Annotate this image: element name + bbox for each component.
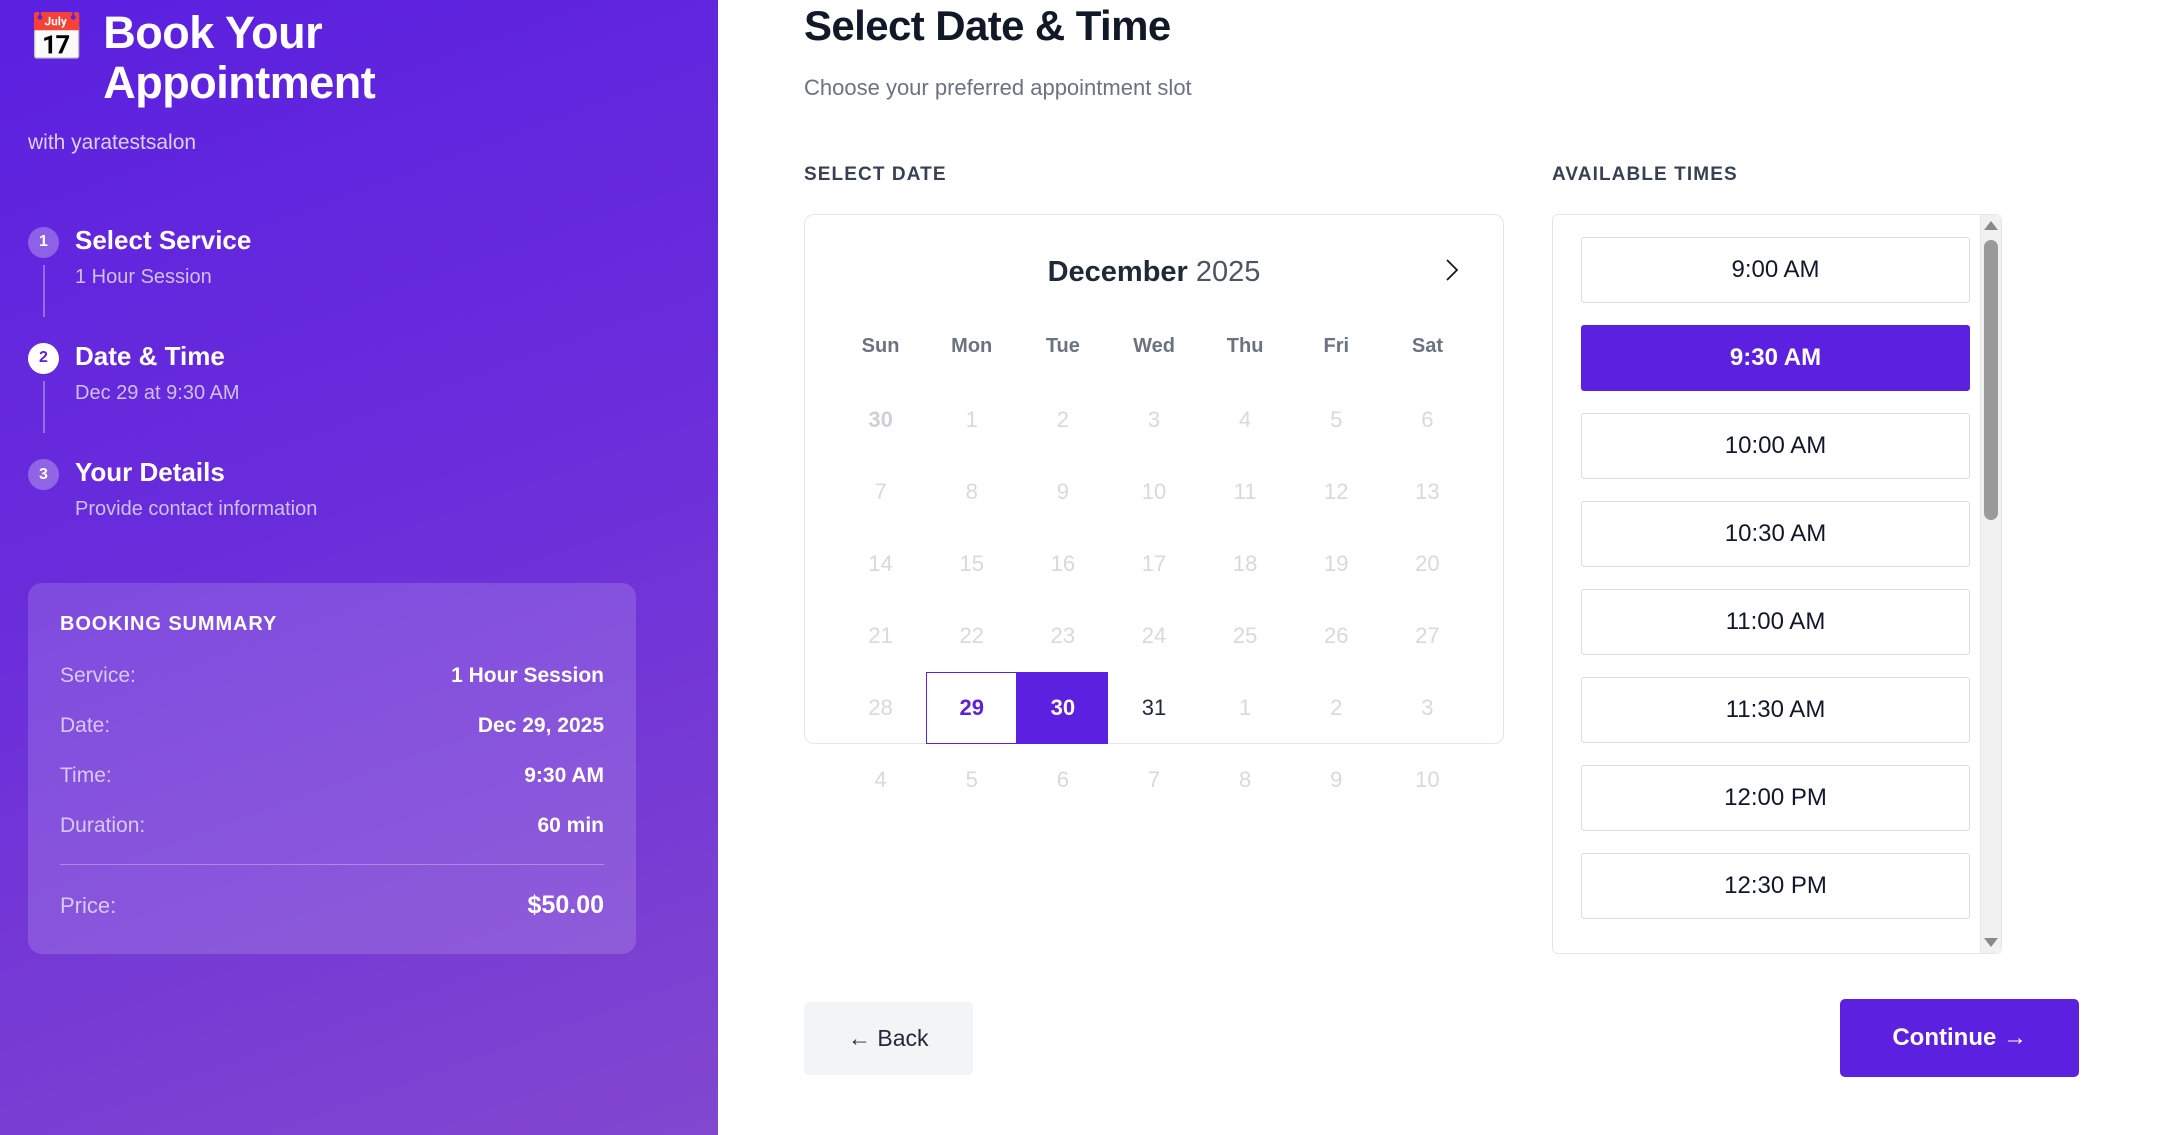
calendar-day-8: 8	[1200, 744, 1291, 816]
calendar-widget: December 2025 Sun Mon Tue Wed	[804, 214, 1504, 744]
calendar-day-17: 17	[1108, 528, 1199, 600]
calendar-day-30: 30	[835, 384, 926, 456]
step-connector-line	[43, 265, 45, 317]
calendar-day-5: 5	[1291, 384, 1382, 456]
calendar-day-1: 1	[1200, 672, 1291, 744]
weekday-label: Wed	[1108, 325, 1199, 384]
step-title: Select Service	[75, 225, 690, 256]
step-number-badge: 3	[28, 459, 59, 490]
times-panel: AVAILABLE TIMES 9:00 AM9:30 AM10:00 AM10…	[1552, 164, 2002, 954]
time-slot-list: 9:00 AM9:30 AM10:00 AM10:30 AM11:00 AM11…	[1581, 237, 1980, 931]
back-button[interactable]: ← Back	[804, 1002, 973, 1075]
calendar-day-27: 27	[1382, 600, 1473, 672]
calendar-month: December	[1048, 256, 1188, 288]
booking-summary-card: BOOKING SUMMARY Service: 1 Hour Session …	[28, 583, 636, 954]
chevron-right-icon[interactable]	[1431, 249, 1473, 291]
step-select-service[interactable]: 1 Select Service 1 Hour Session	[28, 225, 690, 289]
calendar-day-5: 5	[926, 744, 1017, 816]
triangle-down-icon[interactable]	[1984, 938, 1998, 947]
calendar-day-7: 7	[835, 456, 926, 528]
calendar-day-14: 14	[835, 528, 926, 600]
step-your-details[interactable]: 3 Your Details Provide contact informati…	[28, 457, 690, 521]
calendar-day-28: 28	[835, 672, 926, 744]
brand-title: Book Your Appointment	[103, 8, 583, 109]
summary-label: Price:	[60, 893, 116, 919]
step-connector-line	[43, 381, 45, 433]
calendar-day-4: 4	[835, 744, 926, 816]
calendar-day-22: 22	[926, 600, 1017, 672]
calendar-day-8: 8	[926, 456, 1017, 528]
page-subtitle: Choose your preferred appointment slot	[804, 75, 2079, 101]
calendar-day-11: 11	[1200, 456, 1291, 528]
calendar-day-31[interactable]: 31	[1108, 672, 1199, 744]
time-slot[interactable]: 12:30 PM	[1581, 853, 1970, 919]
calendar-day-2: 2	[1017, 384, 1108, 456]
triangle-up-icon[interactable]	[1984, 221, 1998, 230]
time-slot[interactable]: 10:00 AM	[1581, 413, 1970, 479]
calendar-day-12: 12	[1291, 456, 1382, 528]
step-title: Date & Time	[75, 341, 690, 372]
available-times-label: AVAILABLE TIMES	[1552, 164, 2002, 186]
booking-summary-title: BOOKING SUMMARY	[60, 613, 604, 636]
calendar-day-10: 10	[1108, 456, 1199, 528]
calendar-day-26: 26	[1291, 600, 1382, 672]
calendar-grid: Sun Mon Tue Wed Thu Fri Sat 301234567891…	[835, 325, 1473, 816]
calendar-day-4: 4	[1200, 384, 1291, 456]
calendar-day-9: 9	[1017, 456, 1108, 528]
time-slot-list-container: 9:00 AM9:30 AM10:00 AM10:30 AM11:00 AM11…	[1552, 214, 2002, 954]
time-slot[interactable]: 9:00 AM	[1581, 237, 1970, 303]
step-number-badge: 2	[28, 343, 59, 374]
summary-label: Date:	[60, 714, 110, 738]
calendar-day-9: 9	[1291, 744, 1382, 816]
weekday-label: Thu	[1200, 325, 1291, 384]
weekday-label: Mon	[926, 325, 1017, 384]
step-subtitle: Dec 29 at 9:30 AM	[75, 382, 690, 405]
brand-header: 📅 Book Your Appointment	[28, 0, 690, 109]
brand-subtitle: with yaratestsalon	[28, 131, 690, 155]
scrollbar-thumb[interactable]	[1984, 240, 1998, 520]
calendar-day-30[interactable]: 30	[1017, 672, 1108, 744]
calendar-day-7: 7	[1108, 744, 1199, 816]
summary-row-price: Price: $50.00	[60, 891, 604, 920]
weekday-label: Sun	[835, 325, 926, 384]
summary-divider	[60, 864, 604, 865]
summary-label: Service:	[60, 664, 136, 688]
calendar-day-3: 3	[1382, 672, 1473, 744]
step-spacer	[28, 405, 690, 457]
calendar-day-18: 18	[1200, 528, 1291, 600]
calendar-day-24: 24	[1108, 600, 1199, 672]
calendar-day-13: 13	[1382, 456, 1473, 528]
summary-value: Dec 29, 2025	[478, 714, 604, 738]
weekday-label: Tue	[1017, 325, 1108, 384]
step-number-badge: 1	[28, 227, 59, 258]
calendar-day-10: 10	[1382, 744, 1473, 816]
continue-button[interactable]: Continue →	[1840, 999, 2079, 1077]
calendar-day-29[interactable]: 29	[926, 672, 1017, 744]
weekday-label: Sat	[1382, 325, 1473, 384]
summary-row-duration: Duration: 60 min	[60, 814, 604, 838]
calendar-day-3: 3	[1108, 384, 1199, 456]
summary-value: 1 Hour Session	[451, 664, 604, 688]
calendar-year: 2025	[1196, 256, 1261, 288]
calendar-day-6: 6	[1017, 744, 1108, 816]
step-title: Your Details	[75, 457, 690, 488]
time-slot[interactable]: 11:00 AM	[1581, 589, 1970, 655]
step-spacer	[28, 289, 690, 341]
summary-row-date: Date: Dec 29, 2025	[60, 714, 604, 738]
calendar-month-year: December 2025	[1048, 256, 1261, 289]
calendar-icon: 📅	[28, 14, 85, 60]
time-slot[interactable]: 12:00 PM	[1581, 765, 1970, 831]
calendar-day-16: 16	[1017, 528, 1108, 600]
calendar-day-23: 23	[1017, 600, 1108, 672]
time-slot[interactable]: 9:30 AM	[1581, 325, 1970, 391]
times-scrollbar[interactable]	[1980, 215, 2001, 953]
step-date-time[interactable]: 2 Date & Time Dec 29 at 9:30 AM	[28, 341, 690, 405]
summary-label: Duration:	[60, 814, 145, 838]
calendar-day-1: 1	[926, 384, 1017, 456]
summary-value: 60 min	[537, 814, 604, 838]
calendar-day-19: 19	[1291, 528, 1382, 600]
page-title: Select Date & Time	[804, 0, 2079, 50]
date-panel: SELECT DATE December 2025	[804, 164, 1504, 954]
summary-value: $50.00	[528, 891, 604, 920]
step-list: 1 Select Service 1 Hour Session 2 Date &…	[28, 225, 690, 522]
calendar-day-21: 21	[835, 600, 926, 672]
scrollbar-track[interactable]	[1981, 236, 2001, 932]
select-date-label: SELECT DATE	[804, 164, 1504, 186]
selection-panels: SELECT DATE December 2025	[804, 164, 2079, 954]
calendar-header: December 2025	[835, 249, 1473, 295]
calendar-day-6: 6	[1382, 384, 1473, 456]
calendar-day-20: 20	[1382, 528, 1473, 600]
summary-row-service: Service: 1 Hour Session	[60, 664, 604, 688]
step-subtitle: 1 Hour Session	[75, 266, 690, 289]
time-slot[interactable]: 10:30 AM	[1581, 501, 1970, 567]
sidebar: 📅 Book Your Appointment with yaratestsal…	[0, 0, 718, 1135]
calendar-day-15: 15	[926, 528, 1017, 600]
summary-label: Time:	[60, 764, 112, 788]
summary-value: 9:30 AM	[524, 764, 604, 788]
booking-wizard: 📅 Book Your Appointment with yaratestsal…	[0, 0, 2165, 1135]
calendar-day-2: 2	[1291, 672, 1382, 744]
calendar-day-25: 25	[1200, 600, 1291, 672]
step-subtitle: Provide contact information	[75, 498, 690, 521]
time-slot[interactable]: 11:30 AM	[1581, 677, 1970, 743]
summary-row-time: Time: 9:30 AM	[60, 764, 604, 788]
main-content: Select Date & Time Choose your preferred…	[718, 0, 2165, 1135]
weekday-label: Fri	[1291, 325, 1382, 384]
wizard-footer: ← Back Continue →	[804, 999, 2079, 1077]
